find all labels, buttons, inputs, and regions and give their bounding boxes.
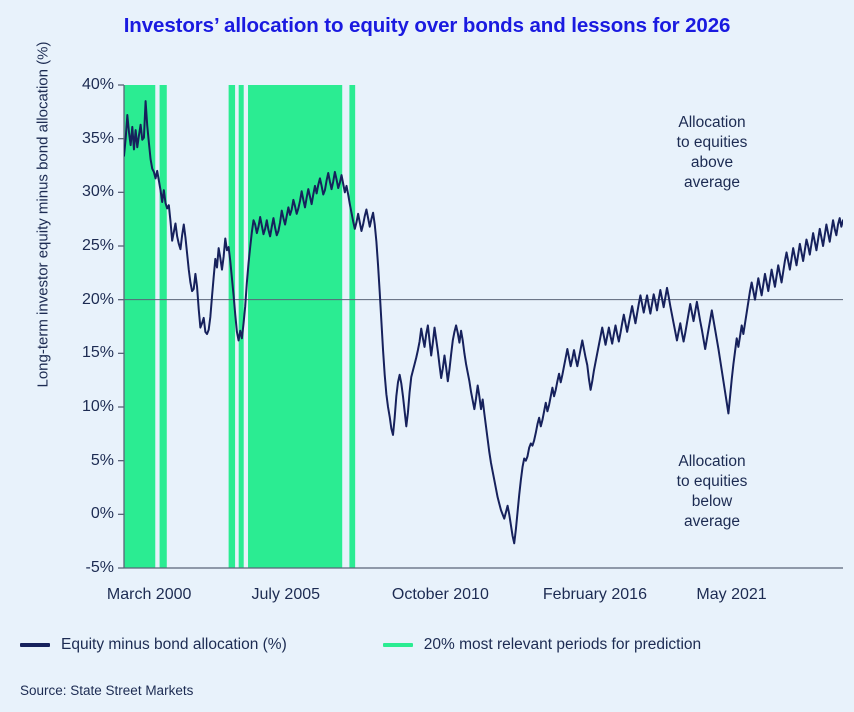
annotation-above-average: Allocation to equities above average bbox=[632, 113, 792, 193]
legend-item-series-line: Equity minus bond allocation (%) bbox=[20, 636, 287, 654]
annotation-below-average: Allocation to equities below average bbox=[632, 452, 792, 532]
legend-label-line: Equity minus bond allocation (%) bbox=[61, 636, 287, 654]
x-axis-tick-label: October 2010 bbox=[392, 586, 489, 604]
highlight-band bbox=[349, 85, 355, 568]
highlight-band bbox=[229, 85, 235, 568]
legend-label-band: 20% most relevant periods for prediction bbox=[424, 636, 701, 654]
highlight-band bbox=[248, 85, 342, 568]
legend-swatch-band bbox=[383, 643, 413, 647]
chart-legend: Equity minus bond allocation (%) 20% mos… bbox=[20, 636, 701, 654]
plot-area bbox=[0, 0, 854, 712]
x-axis-tick-label: March 2000 bbox=[107, 586, 192, 604]
source-note: Source: State Street Markets bbox=[20, 683, 193, 698]
legend-item-relevant-periods: 20% most relevant periods for prediction bbox=[383, 636, 701, 654]
x-axis-tick-label: May 2021 bbox=[696, 586, 766, 604]
legend-swatch-line bbox=[20, 643, 50, 647]
chart-container: Investors’ allocation to equity over bon… bbox=[0, 0, 854, 712]
x-axis-tick-label: July 2005 bbox=[252, 586, 321, 604]
highlight-band bbox=[160, 85, 167, 568]
x-axis-tick-label: February 2016 bbox=[543, 586, 647, 604]
